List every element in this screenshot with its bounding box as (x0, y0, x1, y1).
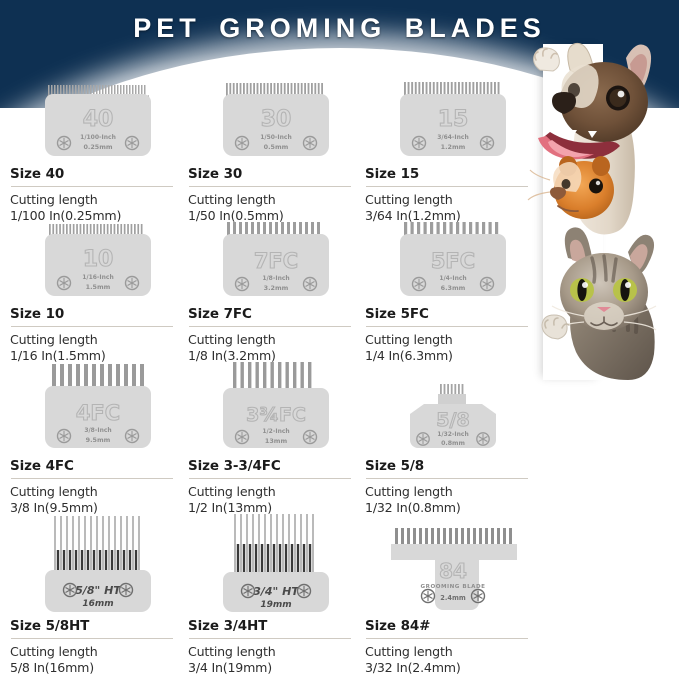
svg-text:1/8-Inch: 1/8-Inch (262, 275, 289, 282)
blade-art-coarse: 4FC 3/8-Inch 9.5mm (39, 362, 157, 458)
svg-text:2.4mm: 2.4mm (440, 594, 466, 602)
blade-card-1[interactable]: 30 1/50-Inch 0.5mm Size 30 Cutting lengt… (188, 82, 364, 225)
blade-image-4: 7FC 1/8-Inch 3.2mm (188, 222, 364, 306)
svg-text:16mm: 16mm (82, 599, 113, 609)
svg-text:0.5mm: 0.5mm (264, 143, 289, 151)
blade-desc-line1: Cutting length (365, 484, 541, 500)
blade-art-skip: 3/4" HT 19mm (217, 514, 335, 618)
svg-text:6.3mm: 6.3mm (441, 284, 466, 292)
svg-text:3/64-Inch: 3/64-Inch (437, 134, 469, 141)
blade-card-5[interactable]: 5FC 1/4-Inch 6.3mm Size 5FC Cutting leng… (365, 222, 541, 365)
divider (366, 638, 528, 639)
blade-desc-line1: Cutting length (10, 332, 186, 348)
blade-image-9: 5/8" HT 16mm (10, 514, 186, 618)
blade-card-7[interactable]: 3¾FC 1/2-Inch 13mm Size 3-3/4FC Cutting … (188, 362, 364, 517)
divider (11, 186, 173, 187)
blade-image-11: 84 GROOMING BLADE 2.4mm (365, 514, 541, 618)
blade-image-0: 40 1/100-Inch 0.25mm (10, 82, 186, 166)
svg-text:9.5mm: 9.5mm (86, 436, 111, 444)
blade-art-fine: 10 1/16-Inch 1.5mm (39, 222, 157, 304)
blade-image-2: 15 3/64-Inch 1.2mm (365, 82, 541, 166)
svg-text:15: 15 (438, 107, 469, 132)
page-title: PET GROMING BLADES (0, 13, 679, 44)
blade-card-6[interactable]: 4FC 3/8-Inch 9.5mm Size 4FC Cutting leng… (10, 362, 186, 517)
blade-card-2[interactable]: 15 3/64-Inch 1.2mm Size 15 Cutting lengt… (365, 82, 541, 225)
blade-image-8: 5/8 1/32-Inch 0.8mm (365, 362, 541, 458)
blade-image-6: 4FC 3/8-Inch 9.5mm (10, 362, 186, 458)
blade-grid: 40 1/100-Inch 0.25mm Size 40 Cutting len… (0, 70, 679, 671)
blade-image-5: 5FC 1/4-Inch 6.3mm (365, 222, 541, 306)
svg-text:7FC: 7FC (254, 249, 298, 273)
blade-size-label: Size 3/4HT (188, 618, 364, 634)
blade-card-4[interactable]: 7FC 1/8-Inch 3.2mm Size 7FC Cutting leng… (188, 222, 364, 365)
blade-size-label: Size 40 (10, 166, 186, 182)
divider (11, 478, 173, 479)
svg-text:3/8-Inch: 3/8-Inch (84, 427, 111, 434)
blade-size-label: Size 4FC (10, 458, 186, 474)
blade-desc-line1: Cutting length (365, 644, 541, 660)
blade-card-3[interactable]: 10 1/16-Inch 1.5mm Size 10 Cutting lengt… (10, 222, 186, 365)
blade-art-fine: 40 1/100-Inch 0.25mm (39, 82, 157, 164)
blade-desc-line1: Cutting length (10, 484, 186, 500)
svg-text:4FC: 4FC (76, 401, 120, 425)
svg-text:10: 10 (83, 247, 114, 272)
svg-text:3/4" HT: 3/4" HT (253, 585, 300, 598)
blade-image-3: 10 1/16-Inch 1.5mm (10, 222, 186, 306)
svg-text:1/100-Inch: 1/100-Inch (80, 134, 116, 141)
blade-art-coarse: 3¾FC 1/2-Inch 13mm (217, 362, 335, 458)
blade-art-tshape: 84 GROOMING BLADE 2.4mm (383, 526, 523, 618)
blade-size-label: Size 5/8HT (10, 618, 186, 634)
svg-text:1/50-Inch: 1/50-Inch (260, 134, 292, 141)
blade-card-11[interactable]: 84 GROOMING BLADE 2.4mm Size 84# Cutting… (365, 514, 541, 677)
svg-text:19mm: 19mm (260, 600, 291, 610)
svg-text:84: 84 (439, 559, 467, 583)
divider (189, 478, 351, 479)
blade-size-label: Size 5/8 (365, 458, 541, 474)
blade-size-label: Size 3-3/4FC (188, 458, 364, 474)
svg-text:3¾FC: 3¾FC (246, 404, 306, 426)
svg-text:0.8mm: 0.8mm (441, 440, 465, 447)
blade-desc-line1: Cutting length (10, 192, 186, 208)
svg-text:0.25mm: 0.25mm (83, 143, 112, 151)
blade-size-label: Size 15 (365, 166, 541, 182)
svg-text:1/2-Inch: 1/2-Inch (262, 428, 289, 435)
blade-image-7: 3¾FC 1/2-Inch 13mm (188, 362, 364, 458)
blade-art-fine: 30 1/50-Inch 0.5mm (217, 82, 335, 164)
blade-art-toe: 5/8 1/32-Inch 0.8mm (394, 384, 512, 458)
blade-size-label: Size 10 (10, 306, 186, 322)
blade-size-label: Size 84# (365, 618, 541, 634)
svg-text:1/4-Inch: 1/4-Inch (439, 275, 466, 282)
blade-art-medium: 7FC 1/8-Inch 3.2mm (217, 222, 335, 304)
divider (366, 326, 528, 327)
svg-text:3.2mm: 3.2mm (264, 284, 289, 292)
blade-desc-line1: Cutting length (188, 332, 364, 348)
svg-text:30: 30 (261, 107, 292, 132)
blade-image-1: 30 1/50-Inch 0.5mm (188, 82, 364, 166)
svg-text:5/8" HT: 5/8" HT (75, 584, 122, 597)
blade-art-skip: 5/8" HT 16mm (39, 514, 157, 618)
divider (11, 638, 173, 639)
blade-art-fine: 15 3/64-Inch 1.2mm (394, 82, 512, 164)
blade-image-10: 3/4" HT 19mm (188, 514, 364, 618)
svg-text:1.5mm: 1.5mm (86, 283, 111, 291)
svg-text:1/16-Inch: 1/16-Inch (82, 274, 114, 281)
blade-desc-line1: Cutting length (365, 192, 541, 208)
svg-text:40: 40 (83, 107, 114, 132)
svg-text:5/8: 5/8 (436, 409, 469, 431)
svg-text:1.2mm: 1.2mm (441, 143, 466, 151)
svg-text:5FC: 5FC (431, 249, 475, 273)
blade-card-8[interactable]: 5/8 1/32-Inch 0.8mm Size 5/8 Cutting len… (365, 362, 541, 517)
svg-text:13mm: 13mm (265, 437, 288, 445)
divider (189, 638, 351, 639)
divider (189, 326, 351, 327)
svg-text:GROOMING BLADE: GROOMING BLADE (421, 584, 486, 590)
blade-desc-line1: Cutting length (188, 192, 364, 208)
blade-desc-line2: 5/8 In(16mm) (10, 660, 186, 676)
blade-size-label: Size 7FC (188, 306, 364, 322)
blade-desc-line1: Cutting length (188, 644, 364, 660)
blade-art-medium: 5FC 1/4-Inch 6.3mm (394, 222, 512, 304)
blade-desc-line1: Cutting length (188, 484, 364, 500)
divider (11, 326, 173, 327)
blade-size-label: Size 30 (188, 166, 364, 182)
blade-size-label: Size 5FC (365, 306, 541, 322)
blade-desc-line1: Cutting length (10, 644, 186, 660)
blade-desc-line1: Cutting length (365, 332, 541, 348)
divider (366, 186, 528, 187)
blade-desc-line2: 3/4 In(19mm) (188, 660, 364, 676)
divider (189, 186, 351, 187)
divider (366, 478, 528, 479)
blade-card-10[interactable]: 3/4" HT 19mm Size 3/4HT Cutting length 3… (188, 514, 364, 677)
blade-card-9[interactable]: 5/8" HT 16mm Size 5/8HT Cutting length 5… (10, 514, 186, 677)
blade-desc-line2: 3/32 In(2.4mm) (365, 660, 541, 676)
svg-text:1/32-Inch: 1/32-Inch (437, 431, 469, 438)
blade-card-0[interactable]: 40 1/100-Inch 0.25mm Size 40 Cutting len… (10, 82, 186, 225)
